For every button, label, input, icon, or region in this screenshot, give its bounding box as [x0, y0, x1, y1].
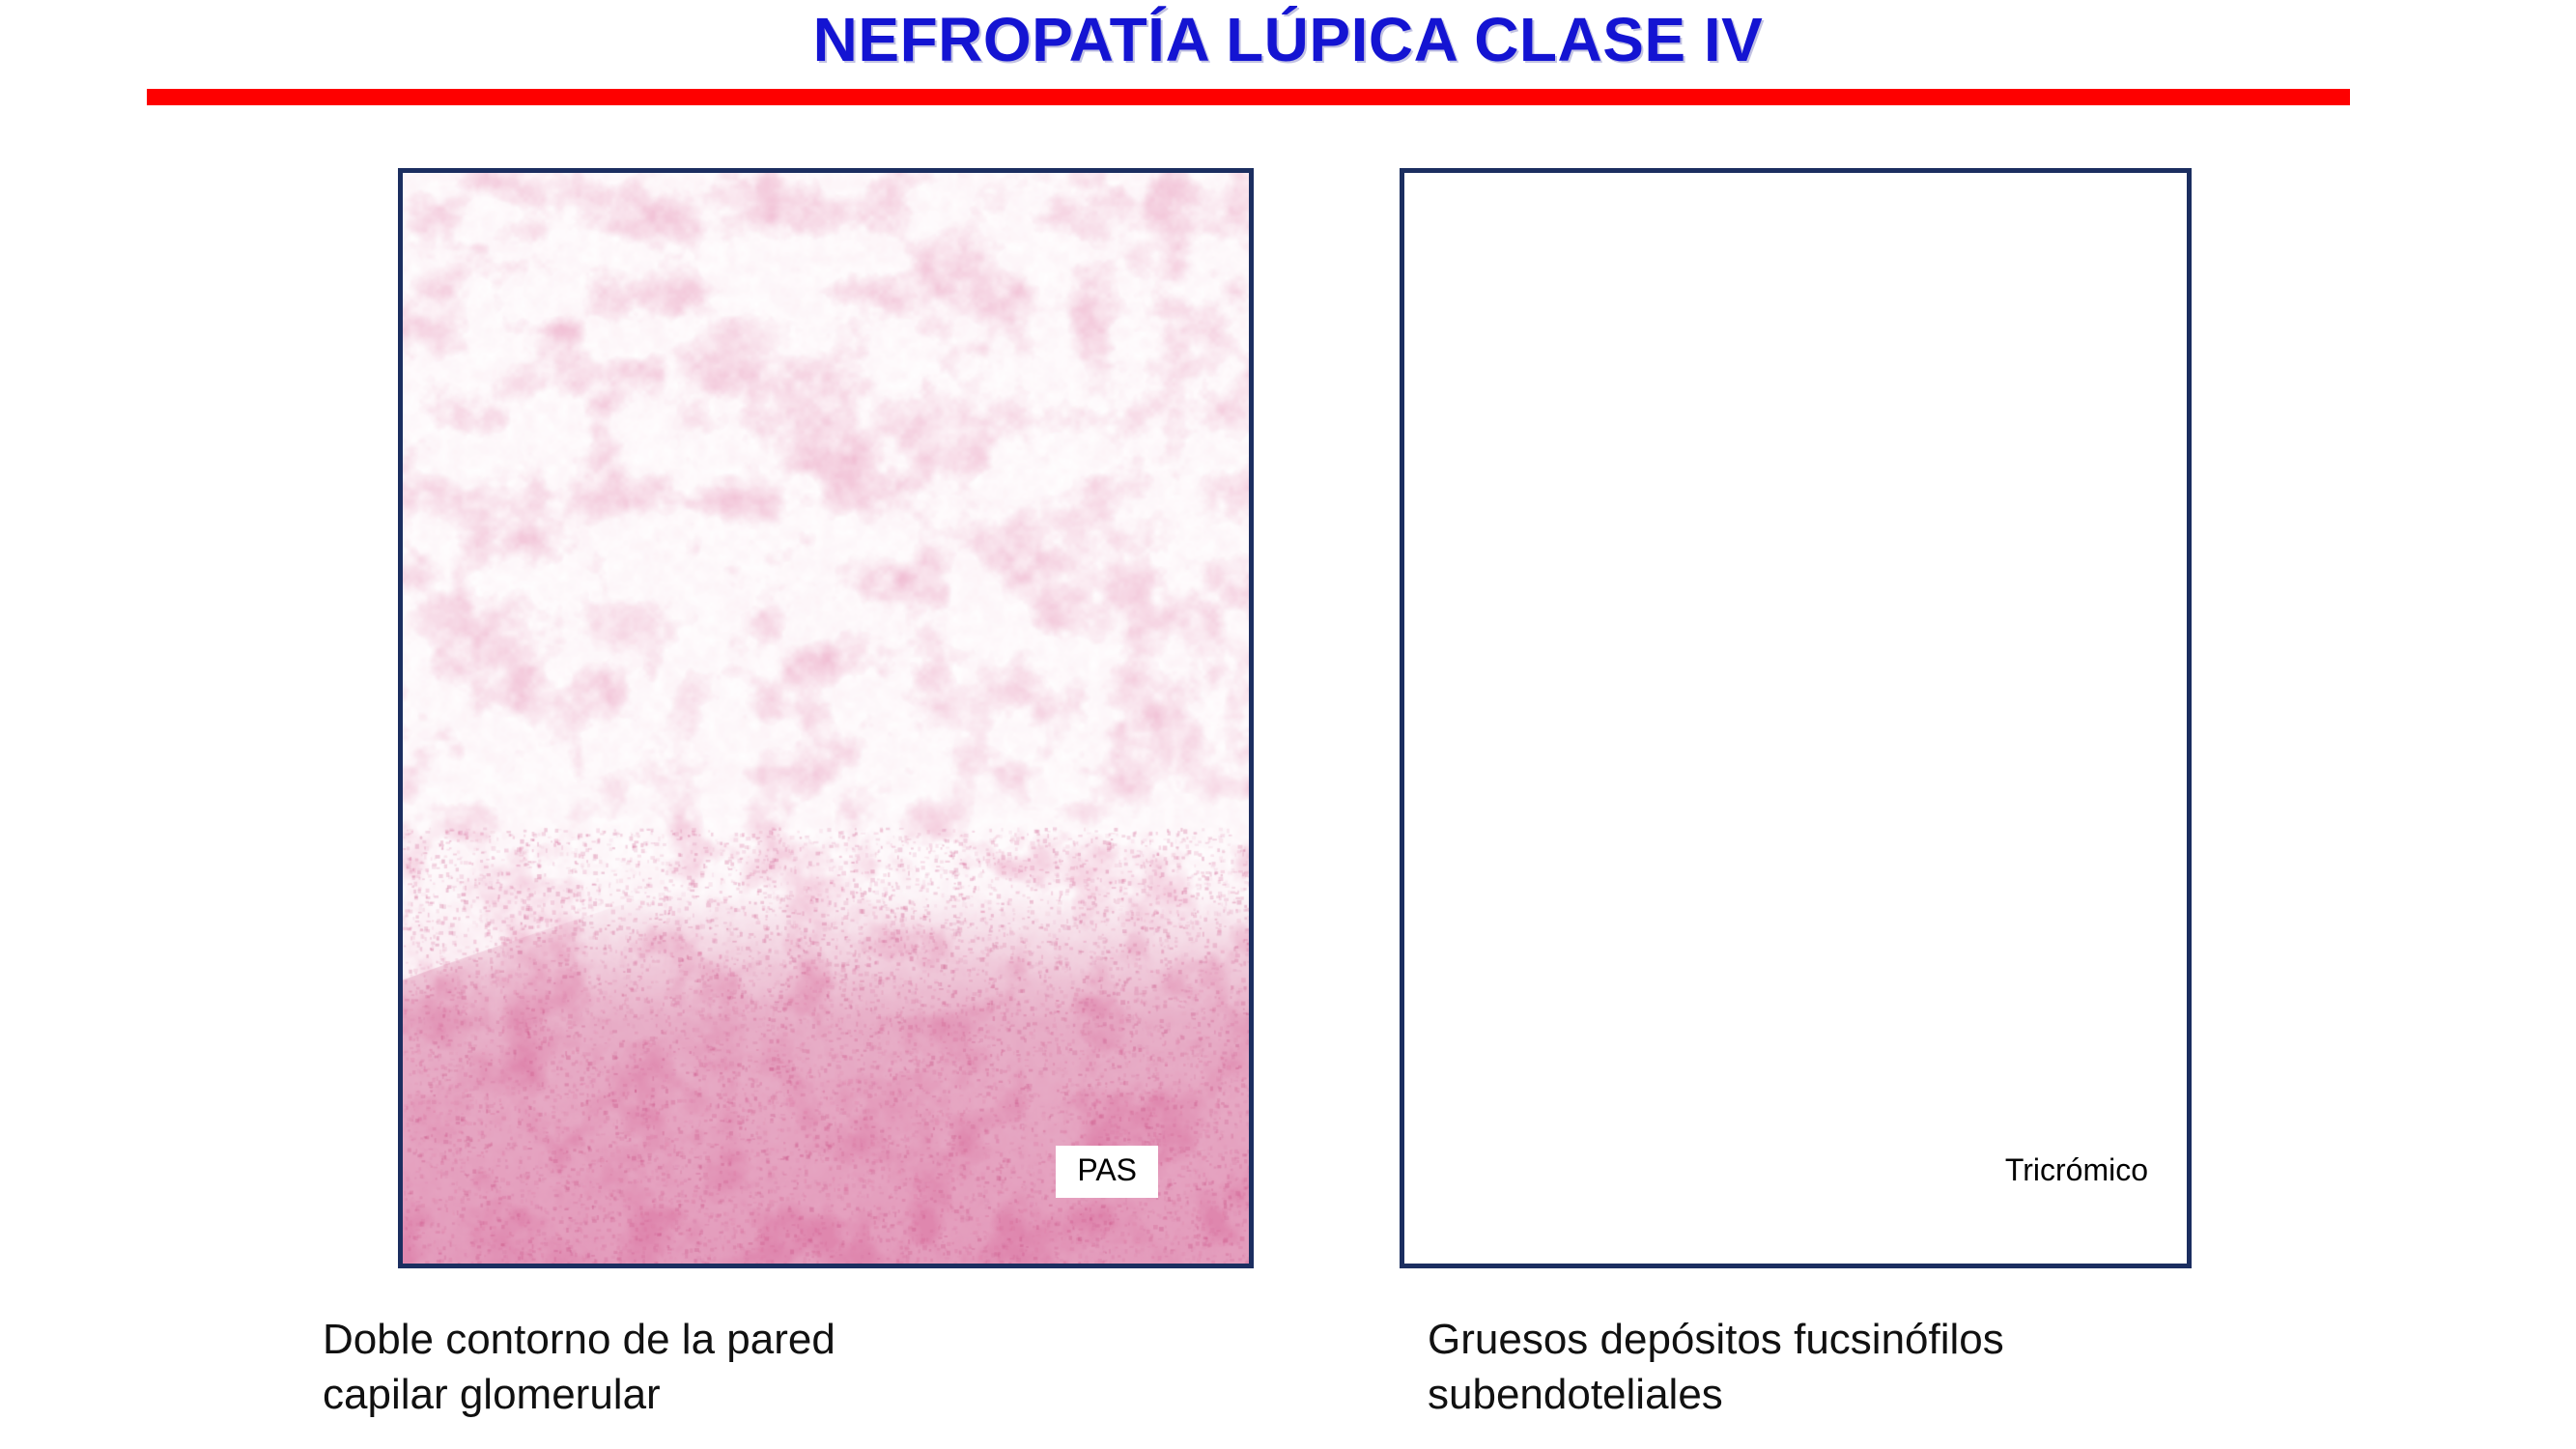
pas-micrograph-image: [403, 173, 1249, 1264]
stain-label-trichrome: Tricrómico: [1984, 1146, 2169, 1198]
micrograph-panel-trichrome[interactable]: Tricrómico: [1400, 168, 2192, 1268]
page-title: NEFROPATÍA LÚPICA CLASE IV: [0, 4, 2576, 75]
caption-trichrome-panel: Gruesos depósitos fucsinófilos subendote…: [1428, 1312, 2181, 1422]
micrograph-panel-pas[interactable]: PAS: [398, 168, 1254, 1268]
stain-label-pas: PAS: [1056, 1146, 1158, 1198]
trichrome-micrograph-image: [1404, 173, 2187, 1264]
caption-pas-panel: Doble contorno de la pared capilar glome…: [323, 1312, 1018, 1422]
title-underline-rule: [147, 89, 2350, 105]
